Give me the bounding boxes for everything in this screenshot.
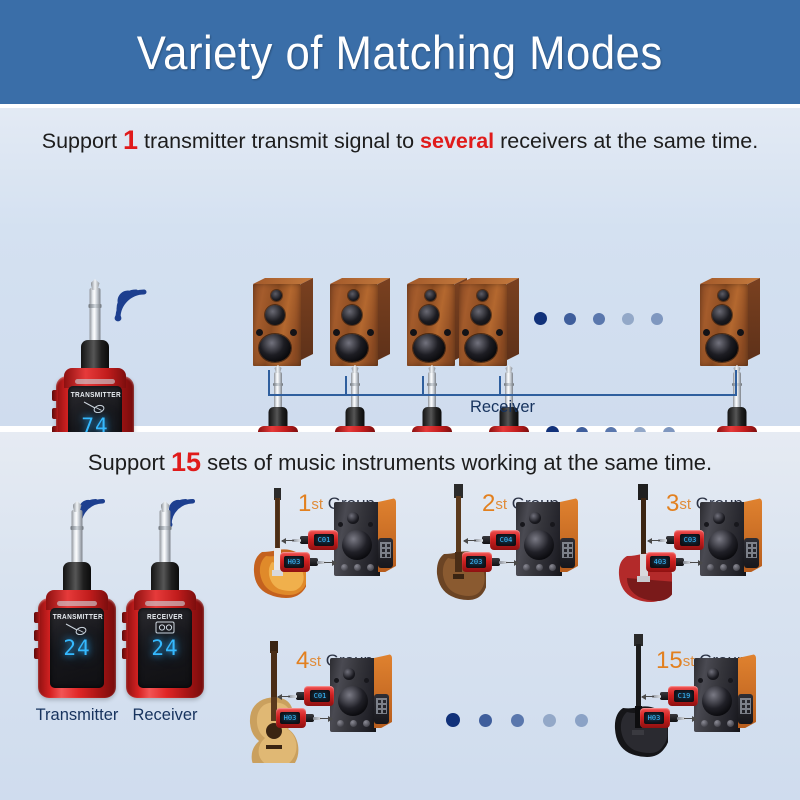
signal-arrow-out-15 [684, 718, 696, 719]
headline-part-1: Support [42, 129, 123, 153]
dongle-display: H03 [284, 556, 304, 568]
woofer-icon [259, 334, 291, 362]
headline-part-2: transmitter transmit signal to [138, 129, 420, 153]
wood-speaker-2 [330, 278, 390, 366]
screen-mode-label: RECEIVER [141, 612, 190, 621]
volume-knobs[interactable] [341, 564, 374, 571]
signal-arrow-in-4 [278, 696, 290, 697]
receiver-bracket-label: Receiver [470, 398, 535, 417]
wood-speaker-last [700, 278, 760, 366]
screen-channel-digits: 24 [138, 638, 192, 658]
pair-transmitter-caption: Transmitter [36, 706, 119, 725]
signal-arrow-out-2 [506, 562, 518, 563]
infographic-page: Variety of Matching Modes Support 1 tran… [0, 0, 800, 800]
headline2-part-2: sets of music instruments working at the… [201, 450, 712, 475]
group-2-transmitter-dongle: C04 [476, 530, 520, 550]
headline-part-3: receivers at the same time. [494, 129, 758, 153]
wood-speaker-4 [459, 278, 519, 366]
dot-2 [564, 313, 576, 325]
group-4-receiver-dongle: H03 [276, 708, 320, 728]
headline-highlight-several: several [420, 129, 494, 153]
dot-3 [593, 313, 605, 325]
group-1-receiver-dongle: H03 [280, 552, 324, 572]
pair-receiver-device: RECEIVER 24 Receiver [126, 510, 204, 680]
dot-4 [622, 313, 634, 325]
dot-5 [651, 313, 663, 325]
group-3-receiver-dongle: 403 [646, 552, 690, 572]
pair-receiver-caption: Receiver [132, 706, 197, 725]
speaker-row-ellipsis [534, 312, 663, 325]
monitor-speaker-group-1 [334, 498, 396, 576]
headline2-highlight-count: 15 [171, 447, 201, 477]
group-1-transmitter-dongle: C01 [294, 530, 338, 550]
wood-speaker-1 [253, 278, 313, 366]
headline-highlight-count: 1 [123, 125, 138, 155]
wood-speaker-3 [407, 278, 467, 366]
signal-arrow-in-3 [648, 540, 660, 541]
signal-arrow-in-1 [282, 540, 294, 541]
group-15-transmitter-dongle: C19 [654, 686, 698, 706]
monitor-speaker-group-15 [694, 654, 756, 732]
tweeter-icon [271, 290, 282, 301]
page-title: Variety of Matching Modes [137, 25, 663, 80]
dot-1 [534, 312, 547, 325]
pair-transmitter-device: TRANSMITTER 24 Transmitter [38, 510, 116, 680]
signal-arrow-out-1 [324, 562, 336, 563]
tweeter-icon [347, 512, 359, 524]
dongle-display: C01 [314, 534, 334, 546]
section-one-headline: Support 1 transmitter transmit signal to… [0, 125, 800, 156]
mid-driver-icon [265, 305, 285, 325]
belt-clip [64, 368, 126, 388]
screen-channel-digits: 24 [50, 638, 104, 658]
section-two-fifteen-groups: Support 15 sets of music instruments wor… [0, 432, 800, 800]
signal-arrow-in-2 [464, 540, 476, 541]
section-two-headline: Support 15 sets of music instruments wor… [0, 447, 800, 478]
screen-mode-label: TRANSMITTER [53, 612, 102, 621]
group-3-transmitter-dongle: C03 [660, 530, 704, 550]
groups-ellipsis [446, 713, 588, 727]
screen-mode-label: TRANSMITTER [71, 390, 120, 399]
monitor-speaker-group-3 [700, 498, 762, 576]
header-banner: Variety of Matching Modes [0, 0, 800, 104]
remote-control[interactable] [378, 538, 393, 568]
group-2-receiver-dongle: 203 [462, 552, 506, 572]
receiver-bracket: Receiver [268, 370, 737, 396]
signal-arrow-out-4 [320, 718, 332, 719]
group-15-receiver-dongle: H03 [640, 708, 684, 728]
group-4-transmitter-dongle: C01 [290, 686, 334, 706]
section-one-transmitter-to-many: Support 1 transmitter transmit signal to… [0, 108, 800, 426]
signal-arrow-out-3 [690, 562, 702, 563]
monitor-speaker-group-4 [330, 654, 392, 732]
monitor-speaker-group-2 [516, 498, 578, 576]
woofer-icon [342, 530, 372, 560]
signal-arrow-in-15 [642, 696, 654, 697]
headline2-part-1: Support [88, 450, 171, 475]
